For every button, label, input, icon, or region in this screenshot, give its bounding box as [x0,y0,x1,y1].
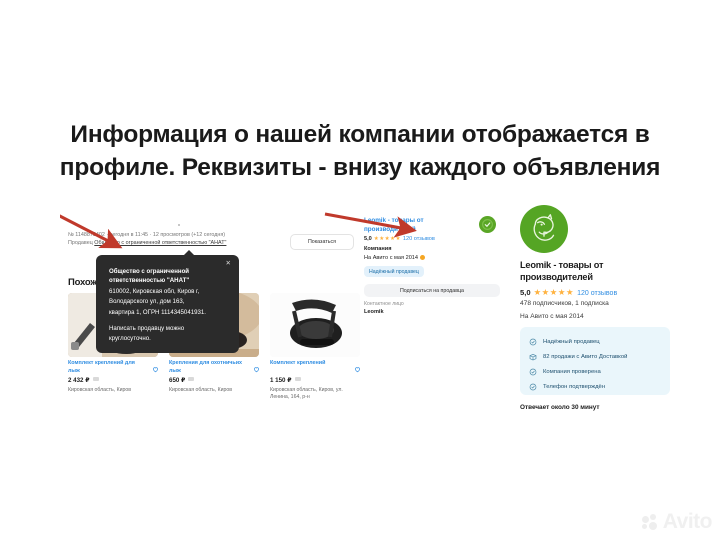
profile-badge-label: 82 продажи с Авито Доставкой [543,354,627,360]
avatar[interactable] [520,205,568,253]
profile-badge-delivery-sales: 82 продажи с Авито Доставкой [520,349,670,364]
seller-summary-panel: Leomik - товары от производителей 5,0★★★… [360,205,530,410]
seller-since: На Авито с мая 2014 [364,255,425,261]
headline-line-2: профиле. Реквизиты - внизу каждого объяв… [24,151,696,184]
profile-name: Leomik - товары от производителей [520,259,642,283]
profile-reviews-link[interactable]: 120 отзывов [577,290,617,297]
avito-wordmark: Avito [663,510,712,534]
profile-since: На Авито с мая 2014 [520,313,584,320]
profile-card: Leomik - товары от производителей 5,0★★★… [520,205,680,410]
page-title: Информация о нашей компании отображается… [0,118,720,184]
listing-left-column: № 1148873402 · сегодня в 11:45 · 12 прос… [60,205,360,410]
slide-root: Информация о нашей компании отображается… [0,0,720,540]
close-icon[interactable]: ✕ [226,261,231,268]
card-thumbnail[interactable] [270,293,360,357]
star-rating-icon: ★★★★★ [374,236,401,242]
profile-badge-label: Надёжный продавец [543,339,600,345]
card-location: Кировская область, Киров [169,387,261,394]
tooltip-address-line-1: 610002, Кировская обл, Киров г, [109,287,226,296]
tooltip-note-line-2: круглосуточно. [109,334,226,343]
embedded-screenshot: № 1148873402 · сегодня в 11:45 · 12 прос… [60,205,680,410]
star-rating-icon: ★★★★★ [534,287,575,297]
list-item[interactable]: Комплект креплений 1 150 ₽ Кировская обл… [270,293,360,357]
seller-rating-value: 5,0 [364,236,372,242]
ski-binding-photo [270,293,360,357]
tooltip-title-line-2: ответственностью "АНАТ" [109,276,226,285]
profile-rating-value: 5,0 [520,288,531,297]
seller-kind: Компания [364,246,391,252]
favorite-icon[interactable] [253,360,260,367]
contact-person-label: Контактное лицо [364,301,404,307]
decorative-dot [178,224,180,226]
seller-legal-name-link[interactable]: Общество с ограниченной ответственностью… [94,240,226,246]
check-circle-icon [529,368,537,376]
tooltip-arrow [184,250,194,255]
seller-prefix-label: Продавец [68,240,93,246]
lion-logo-icon [525,210,563,248]
medal-icon [420,255,425,260]
profile-badge-label: Телефон подтверждён [543,384,605,390]
check-circle-icon [529,338,537,346]
card-price: 2 432 ₽ [68,377,99,384]
favorite-icon[interactable] [152,360,159,367]
avito-dots-icon [642,514,660,530]
delivery-box-icon [529,353,537,361]
check-circle-icon [529,383,537,391]
card-price: 650 ₽ [169,377,194,384]
profile-badge-company-verified: Компания проверена [520,364,670,379]
profile-badges-list: Надёжный продавец 82 продажи с Авито Дос… [520,327,670,395]
contact-person-value: Leomik [364,309,384,315]
profile-badge-reliable-seller: Надёжный продавец [520,334,670,349]
avito-watermark: Avito [642,510,712,534]
card-title[interactable]: Комплект креплений [270,360,346,368]
seller-rating: 5,0★★★★★120 отзывов [364,236,435,242]
profile-badge-label: Компания проверена [543,369,601,375]
card-price: 1 150 ₽ [270,377,301,384]
tooltip-address-line-2: Володарского ул, дом 163, [109,297,226,306]
card-location: Кировская область, Киров, ул. Ленина, 16… [270,387,362,402]
follow-seller-button[interactable]: Подписаться на продавца [364,284,500,297]
card-title[interactable]: Крепления для охотничьих лыж [169,360,245,375]
status-badge: Надёжный продавец [364,266,424,277]
profile-rating: 5,0★★★★★120 отзывов [520,287,617,297]
tooltip-address-line-3: квартира 1, ОГРН 1114345041931. [109,308,226,317]
show-button[interactable]: Показаться [290,234,354,250]
seller-reviews-link[interactable]: 120 отзывов [403,236,435,242]
tooltip-note-line-1: Написать продавцу можно [109,324,226,333]
card-location: Кировская область, Киров [68,387,160,394]
legal-info-tooltip: ✕ Общество с ограниченной ответственност… [96,255,239,353]
verified-check-icon [479,216,496,233]
profile-reply-time: Отвечает около 30 минут [520,404,600,411]
card-title[interactable]: Комплект креплений для лыж [68,360,144,375]
headline-line-1: Информация о нашей компании отображается… [70,121,649,148]
profile-badge-phone-confirmed: Телефон подтверждён [520,379,670,394]
tooltip-title-line-1: Общество с ограниченной [109,267,226,276]
seller-name-link[interactable]: Leomik - товары от производителей [364,217,460,234]
profile-subscribers: 478 подписчиков, 1 подписка [520,300,609,307]
